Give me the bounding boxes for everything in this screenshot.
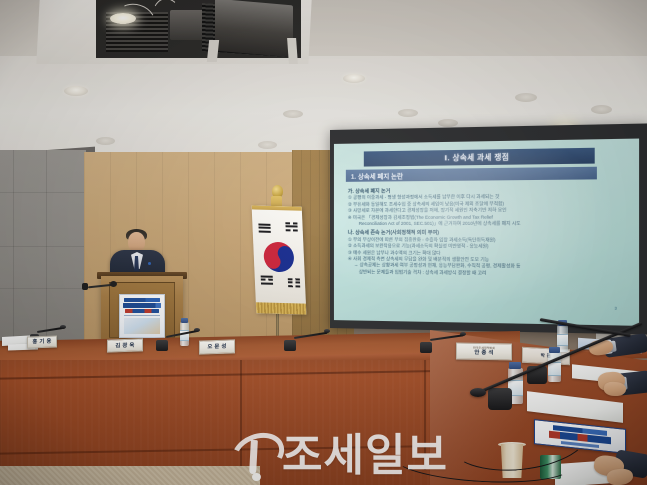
nameplate-name: 김 광 욱 bbox=[115, 342, 134, 349]
banner-line-3 bbox=[125, 309, 159, 313]
banner-line-2 bbox=[123, 303, 161, 308]
desk-mic-head-4 bbox=[460, 332, 466, 336]
taeguk-circle bbox=[258, 236, 300, 277]
nameplate-name: 홍 기 용 bbox=[32, 339, 51, 346]
desk-mic-base-3 bbox=[284, 340, 296, 351]
banner-graphic bbox=[124, 318, 160, 334]
downlight-11 bbox=[258, 141, 277, 149]
trigram-gon bbox=[288, 278, 300, 288]
bottle-label-3 bbox=[548, 362, 561, 376]
trigram-ri bbox=[261, 275, 273, 285]
downlight-5 bbox=[515, 93, 537, 102]
nameplate-name: 안 종 석 bbox=[474, 350, 493, 356]
projector-unit bbox=[215, 0, 293, 57]
desk-mic-base-2 bbox=[156, 340, 168, 351]
slide-line: 상반되는 문제들과 입법기술 격차 : 상속세 과세방식 결정할 때 고려 bbox=[348, 269, 615, 278]
downlight-6 bbox=[591, 105, 612, 114]
slide-subtitle: 1. 상속세 폐지 논란 bbox=[346, 167, 597, 182]
flag-fringe bbox=[256, 302, 307, 314]
downlight-3 bbox=[64, 86, 88, 96]
nameplate: 홍 기 용 bbox=[27, 335, 57, 348]
korean-flag-taegeukgi bbox=[252, 205, 307, 314]
slide-title: Ⅰ. 상속세 과세 쟁점 bbox=[364, 148, 595, 167]
downlight-4 bbox=[343, 74, 365, 83]
slide-body: 가. 상속세 폐지 논거 ① 공평의 이중과세 - 평생 형성과정에서 소득세를… bbox=[348, 183, 615, 278]
downlight-1 bbox=[110, 13, 136, 24]
wall-panel-grey bbox=[0, 150, 86, 340]
carpet-floor bbox=[0, 466, 260, 485]
projection-screen: Ⅰ. 상속세 과세 쟁점 1. 상속세 폐지 논란 가. 상속세 폐지 논거 ①… bbox=[330, 123, 647, 334]
trigram-gam bbox=[285, 222, 297, 232]
downlight-9 bbox=[438, 119, 458, 127]
banner-rule bbox=[124, 315, 160, 316]
seminar-photograph: Ⅰ. 상속세 과세 쟁점 1. 상속세 폐지 논란 가. 상속세 폐지 논거 ①… bbox=[0, 0, 647, 485]
desk-mic-base-4 bbox=[420, 342, 432, 353]
downlight-7 bbox=[283, 110, 303, 118]
desk-mic-head-3 bbox=[324, 329, 330, 333]
nameplate: 오 문 성 bbox=[199, 339, 235, 354]
table-seam-1 bbox=[240, 360, 242, 470]
bottle-cap-1 bbox=[181, 318, 188, 323]
flag-header-band bbox=[252, 205, 302, 210]
desk-mic-head-1 bbox=[60, 325, 66, 329]
presentation-slide: Ⅰ. 상속세 과세 쟁점 1. 상속세 폐지 논란 가. 상속세 폐지 논거 ①… bbox=[342, 145, 624, 313]
screen-surface: Ⅰ. 상속세 과세 쟁점 1. 상속세 폐지 논란 가. 상속세 폐지 논거 ①… bbox=[334, 139, 639, 326]
banner-line-1 bbox=[124, 298, 160, 302]
bottle-cap-3 bbox=[549, 347, 560, 353]
downlight-8 bbox=[398, 109, 418, 117]
boom-microphone-head bbox=[470, 388, 486, 397]
podium-banner bbox=[119, 294, 165, 338]
nameplate-name: 오 문 성 bbox=[207, 344, 226, 351]
nameplate: 김 광 욱 bbox=[107, 338, 143, 352]
desk-mic-head-2 bbox=[194, 328, 200, 332]
speaker-head bbox=[128, 232, 145, 252]
bottle-cap-4 bbox=[509, 362, 521, 369]
nameplate: 한국조세정책학회 안 종 석 bbox=[456, 343, 512, 361]
podium-mic-head bbox=[110, 281, 117, 287]
trigram-geon bbox=[258, 224, 270, 234]
slide-page-number: 3 bbox=[615, 306, 617, 310]
bottle-label-2 bbox=[557, 334, 568, 346]
downlight-10 bbox=[96, 137, 115, 145]
slide-line: Reconciliation Act of 2001, SEC.501)」에 근… bbox=[348, 221, 615, 228]
projector-mount-right bbox=[287, 38, 298, 64]
